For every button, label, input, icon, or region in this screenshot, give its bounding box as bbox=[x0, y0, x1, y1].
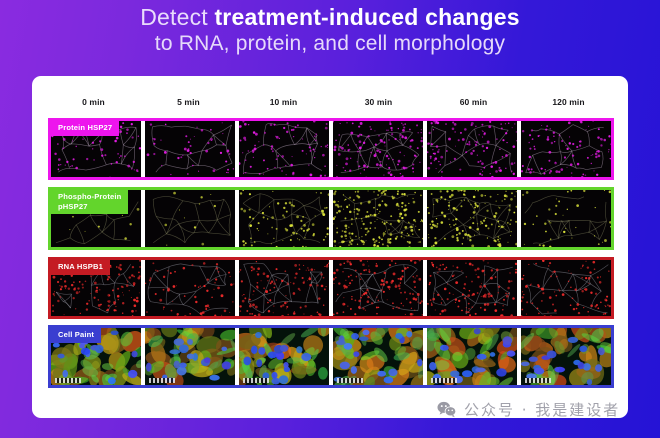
micrograph-panel[interactable] bbox=[239, 121, 329, 177]
column-header-3: 30 min bbox=[331, 97, 426, 107]
micrograph-panel[interactable] bbox=[145, 328, 235, 385]
watermark-text: 公众号 · 我是建设者 bbox=[464, 399, 620, 420]
column-header-row: 0 min5 min10 min30 min60 min120 min bbox=[46, 97, 616, 111]
figure-card: 0 min5 min10 min30 min60 min120 min Prot… bbox=[32, 76, 628, 418]
title-line-1-light: Detect bbox=[140, 4, 214, 30]
row-label-protein-hsp27: Protein HSP27 bbox=[51, 121, 119, 136]
figure-row-phospho-protein-phsp27: Phospho-Protein pHSP27 bbox=[48, 187, 614, 250]
scale-bar bbox=[525, 378, 551, 383]
micrograph-panel[interactable] bbox=[521, 328, 611, 385]
column-header-1: 5 min bbox=[141, 97, 236, 107]
micrograph-panel[interactable] bbox=[333, 260, 423, 316]
micrograph-panel[interactable] bbox=[427, 328, 517, 385]
micrograph-panel[interactable] bbox=[427, 121, 517, 177]
micrograph-panel[interactable] bbox=[521, 121, 611, 177]
micrograph-panel[interactable] bbox=[145, 190, 235, 247]
micrograph-panel[interactable] bbox=[333, 121, 423, 177]
column-header-2: 10 min bbox=[236, 97, 331, 107]
title-line-1: Detect treatment-induced changes bbox=[0, 4, 660, 31]
wechat-icon bbox=[437, 401, 457, 418]
micrograph-panel[interactable] bbox=[145, 121, 235, 177]
row-label-phospho-protein-phsp27: Phospho-Protein pHSP27 bbox=[51, 190, 128, 214]
micrograph-panel[interactable] bbox=[333, 328, 423, 385]
scale-bar bbox=[431, 378, 457, 383]
micrograph-panel[interactable] bbox=[145, 260, 235, 316]
micrograph-panel[interactable] bbox=[427, 190, 517, 247]
panel-strip bbox=[51, 121, 611, 177]
panel-strip bbox=[51, 328, 611, 385]
micrograph-panel[interactable] bbox=[239, 260, 329, 316]
scale-bar bbox=[243, 378, 269, 383]
figure-row-cell-paint: Cell Paint bbox=[48, 325, 614, 388]
row-label-rna-hspb1: RNA HSPB1 bbox=[51, 260, 110, 275]
micrograph-panel[interactable] bbox=[333, 190, 423, 247]
row-label-cell-paint: Cell Paint bbox=[51, 328, 101, 343]
title-line-1-bold: treatment-induced changes bbox=[214, 4, 519, 30]
column-header-4: 60 min bbox=[426, 97, 521, 107]
figure-row-rna-hspb1: RNA HSPB1 bbox=[48, 257, 614, 319]
scale-bar bbox=[149, 378, 175, 383]
figure-row-protein-hsp27: Protein HSP27 bbox=[48, 118, 614, 180]
micrograph-panel[interactable] bbox=[239, 190, 329, 247]
column-header-5: 120 min bbox=[521, 97, 616, 107]
watermark: 公众号 · 我是建设者 bbox=[437, 399, 620, 420]
scale-bar bbox=[55, 378, 81, 383]
micrograph-panel[interactable] bbox=[521, 190, 611, 247]
column-header-0: 0 min bbox=[46, 97, 141, 107]
micrograph-panel[interactable] bbox=[239, 328, 329, 385]
slide-title: Detect treatment-induced changes to RNA,… bbox=[0, 4, 660, 57]
micrograph-panel[interactable] bbox=[427, 260, 517, 316]
panel-strip bbox=[51, 260, 611, 316]
slide-background: Detect treatment-induced changes to RNA,… bbox=[0, 0, 660, 438]
scale-bar bbox=[337, 378, 363, 383]
micrograph-panel[interactable] bbox=[521, 260, 611, 316]
panel-strip bbox=[51, 190, 611, 247]
title-line-2: to RNA, protein, and cell morphology bbox=[0, 32, 660, 57]
